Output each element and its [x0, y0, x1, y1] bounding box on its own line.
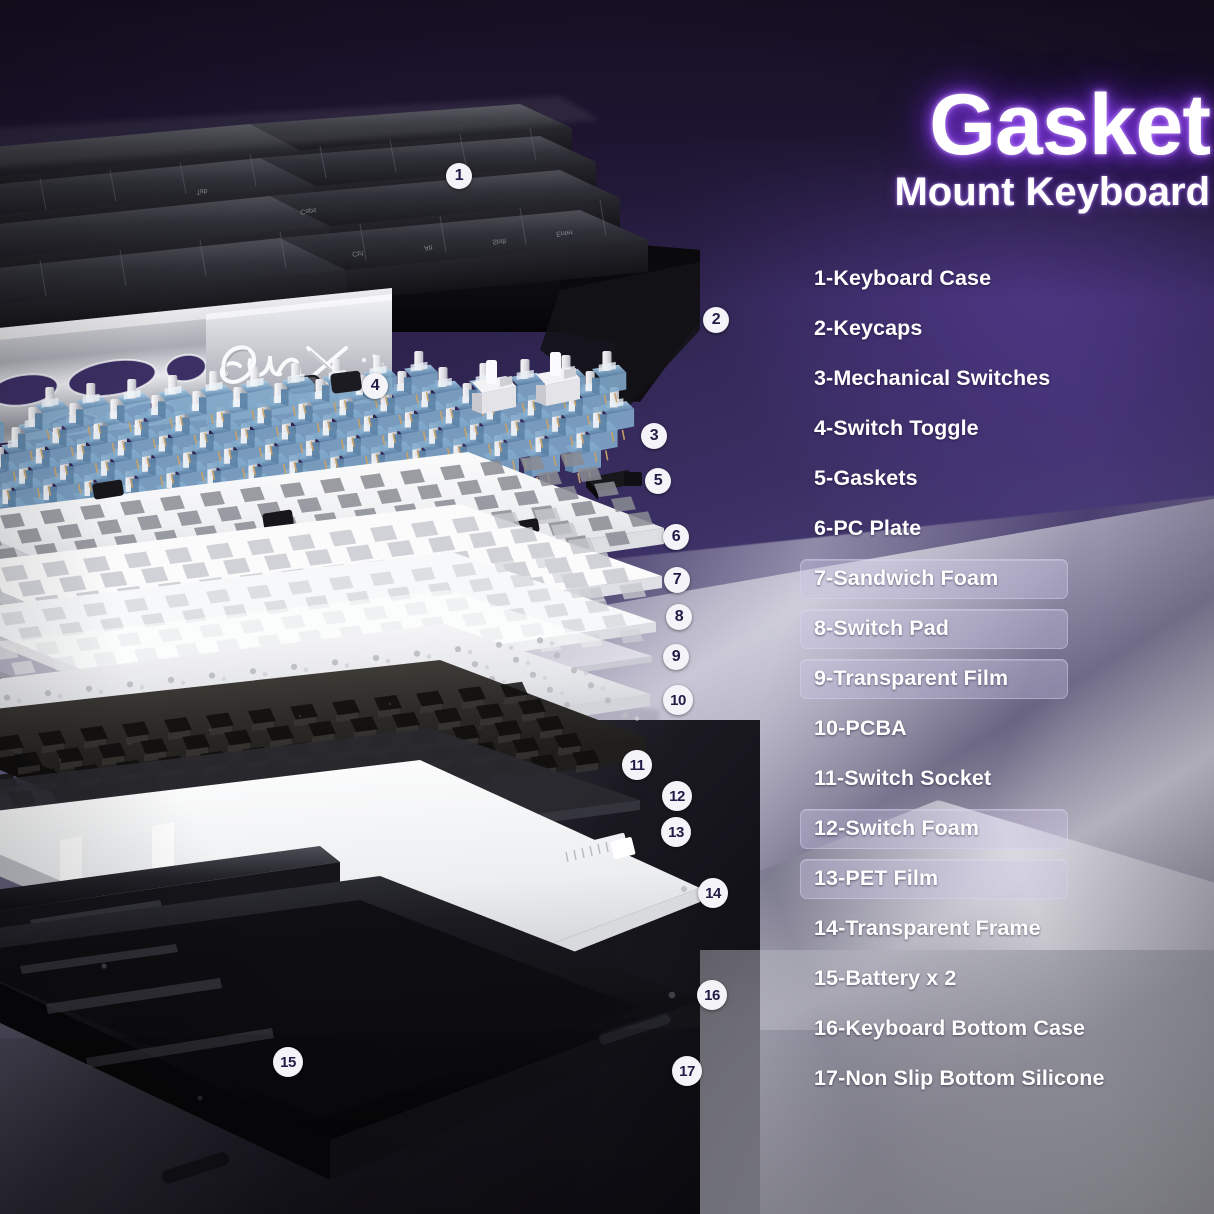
- legend-item-label: 3-Mechanical Switches: [814, 366, 1050, 391]
- legend-item-label: 8-Switch Pad: [814, 616, 949, 641]
- legend-item-14[interactable]: 14-Transparent Frame: [800, 903, 1214, 953]
- callout-badge-4[interactable]: 4: [362, 373, 388, 399]
- legend-item-label: 17-Non Slip Bottom Silicone: [814, 1066, 1105, 1091]
- legend-item-label: 9-Transparent Film: [814, 666, 1008, 691]
- legend-item-4[interactable]: 4-Switch Toggle: [800, 403, 1214, 453]
- legend-item-12[interactable]: 12-Switch Foam: [800, 803, 1214, 853]
- legend-item-label: 1-Keyboard Case: [814, 266, 991, 291]
- callout-badge-5[interactable]: 5: [645, 468, 671, 494]
- callout-badge-3[interactable]: 3: [641, 423, 667, 449]
- legend-item-5[interactable]: 5-Gaskets: [800, 453, 1214, 503]
- callout-badge-11[interactable]: 11: [622, 750, 652, 780]
- legend-item-label: 16-Keyboard Bottom Case: [814, 1016, 1085, 1041]
- callout-badge-16[interactable]: 16: [697, 980, 727, 1010]
- callout-badge-13[interactable]: 13: [661, 817, 691, 847]
- legend-item-2[interactable]: 2-Keycaps: [800, 303, 1214, 353]
- callout-badge-17[interactable]: 17: [672, 1056, 702, 1086]
- legend-item-1[interactable]: 1-Keyboard Case: [800, 253, 1214, 303]
- callout-badge-15[interactable]: 15: [273, 1047, 303, 1077]
- legend-item-label: 12-Switch Foam: [814, 816, 979, 841]
- legend-item-label: 14-Transparent Frame: [814, 916, 1041, 941]
- legend-item-label: 11-Switch Socket: [814, 766, 991, 791]
- legend-item-16[interactable]: 16-Keyboard Bottom Case: [800, 1003, 1214, 1053]
- callout-badge-7[interactable]: 7: [664, 567, 690, 593]
- legend-item-label: 6-PC Plate: [814, 516, 921, 541]
- legend-item-10[interactable]: 10-PCBA: [800, 703, 1214, 753]
- parts-legend-list: 1-Keyboard Case2-Keycaps3-Mechanical Swi…: [800, 253, 1214, 1103]
- legend-item-7[interactable]: 7-Sandwich Foam: [800, 553, 1214, 603]
- callout-badge-12[interactable]: 12: [662, 781, 692, 811]
- legend-item-label: 2-Keycaps: [814, 316, 922, 341]
- callout-badge-8[interactable]: 8: [666, 604, 692, 630]
- legend-item-15[interactable]: 15-Battery x 2: [800, 953, 1214, 1003]
- legend-item-13[interactable]: 13-PET Film: [800, 853, 1214, 903]
- callout-badge-10[interactable]: 10: [663, 685, 693, 715]
- callout-badge-1[interactable]: 1: [446, 163, 472, 189]
- legend-item-17[interactable]: 17-Non Slip Bottom Silicone: [800, 1053, 1214, 1103]
- legend-item-label: 15-Battery x 2: [814, 966, 956, 991]
- legend-item-9[interactable]: 9-Transparent Film: [800, 653, 1214, 703]
- callout-badge-9[interactable]: 9: [663, 644, 689, 670]
- page-subtitle: Mount Keyboard: [786, 171, 1214, 213]
- legend-item-8[interactable]: 8-Switch Pad: [800, 603, 1214, 653]
- callout-badge-6[interactable]: 6: [663, 524, 689, 550]
- legend-item-3[interactable]: 3-Mechanical Switches: [800, 353, 1214, 403]
- info-panel: Gasket Mount Keyboard 1-Keyboard Case2-K…: [786, 0, 1214, 1214]
- legend-item-label: 7-Sandwich Foam: [814, 566, 998, 591]
- callout-badge-2[interactable]: 2: [703, 307, 729, 333]
- title-block: Gasket Mount Keyboard: [786, 86, 1214, 213]
- callout-badge-14[interactable]: 14: [698, 878, 728, 908]
- product-infographic: Ctrl Alt Shift Enter Caps Tab: [0, 0, 1214, 1214]
- legend-item-label: 13-PET Film: [814, 866, 938, 891]
- legend-item-label: 10-PCBA: [814, 716, 907, 741]
- legend-item-label: 4-Switch Toggle: [814, 416, 979, 441]
- legend-item-11[interactable]: 11-Switch Socket: [800, 753, 1214, 803]
- legend-item-label: 5-Gaskets: [814, 466, 918, 491]
- page-title: Gasket: [786, 86, 1214, 165]
- legend-item-6[interactable]: 6-PC Plate: [800, 503, 1214, 553]
